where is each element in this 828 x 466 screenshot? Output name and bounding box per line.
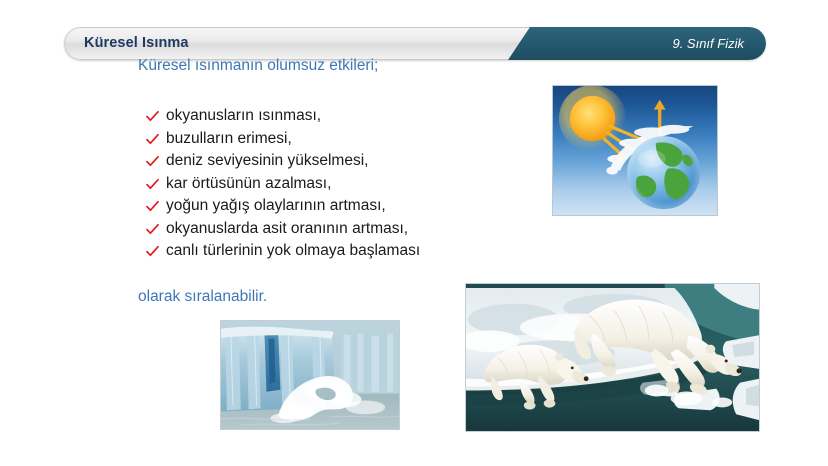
page-title: Küresel Isınma	[84, 27, 189, 60]
effects-list: okyanusların ısınması, buzulların erimes…	[144, 105, 420, 263]
sun-earth-illustration	[552, 85, 718, 216]
check-icon	[146, 173, 160, 195]
list-item: okyanusların ısınması,	[144, 105, 420, 128]
list-item: canlı türlerinin yok olmaya başlaması	[144, 240, 420, 263]
check-icon	[146, 240, 160, 262]
check-icon	[146, 150, 160, 172]
list-item: okyanuslarda asit oranının artması,	[144, 218, 420, 241]
list-item-label: okyanusların ısınması,	[166, 107, 321, 124]
check-icon	[146, 195, 160, 217]
check-icon	[146, 105, 160, 127]
subject-label: 9. Sınıf Fizik	[672, 27, 744, 60]
check-icon	[146, 128, 160, 150]
list-item-label: buzulların erimesi,	[166, 130, 292, 147]
list-item-label: okyanuslarda asit oranının artması,	[166, 220, 408, 237]
list-item: buzulların erimesi,	[144, 128, 420, 151]
list-item-label: canlı türlerinin yok olmaya başlaması	[166, 242, 420, 259]
list-item-label: yoğun yağış olaylarının artması,	[166, 197, 386, 214]
list-item-label: kar örtüsünün azalması,	[166, 175, 331, 192]
list-item: kar örtüsünün azalması,	[144, 173, 420, 196]
glacier-calving-photo	[220, 320, 400, 430]
lead-paragraph: Küresel ısınmanın olumsuz etkileri;	[138, 57, 378, 75]
closing-paragraph: olarak sıralanabilir.	[138, 288, 267, 306]
list-item: yoğun yağış olaylarının artması,	[144, 195, 420, 218]
slide-header-bar: Küresel Isınma 9. Sınıf Fizik	[64, 27, 766, 60]
polar-bears-photo	[465, 283, 760, 432]
list-item: deniz seviyesinin yükselmesi,	[144, 150, 420, 173]
check-icon	[146, 218, 160, 240]
list-item-label: deniz seviyesinin yükselmesi,	[166, 152, 368, 169]
